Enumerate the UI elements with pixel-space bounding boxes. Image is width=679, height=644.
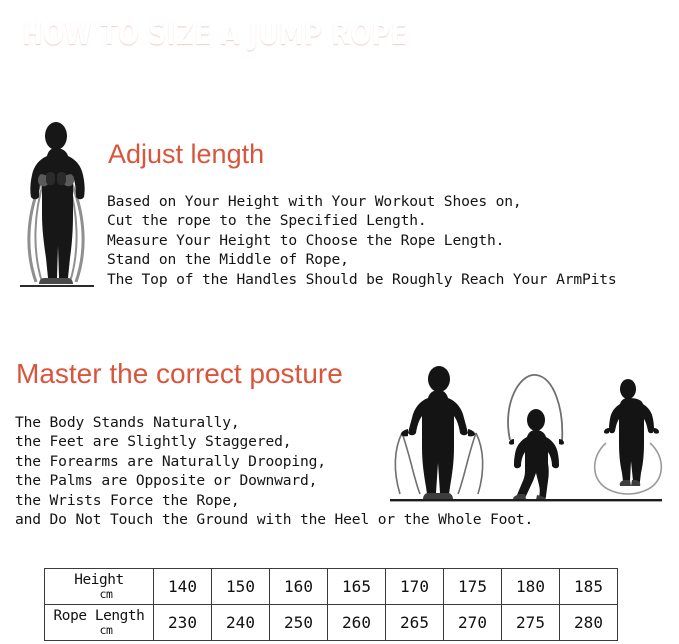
height-value-cell: 170: [386, 569, 444, 605]
height-value-cell: 165: [328, 569, 386, 605]
rope-length-value-cell: 280: [560, 605, 618, 641]
table-row: Rope Lengthcm 230 240 250 260 265 270 27…: [45, 605, 618, 641]
row-unit-rope-length: cm: [45, 625, 153, 637]
page-title: HOW TO SIZE A JUMP ROPE: [22, 16, 492, 51]
height-value-cell: 185: [560, 569, 618, 605]
rope-length-value-cell: 230: [154, 605, 212, 641]
rope-length-value-cell: 265: [386, 605, 444, 641]
table-row: Heightcm 140 150 160 165 170 175 180 185: [45, 569, 618, 605]
page-header-banner: HOW TO SIZE A JUMP ROPE: [0, 11, 679, 58]
section-heading-master-posture: Master the correct posture: [16, 358, 343, 390]
three-jumping-figures-icon: [384, 363, 666, 504]
section-heading-adjust-length: Adjust length: [108, 139, 264, 170]
height-value-cell: 180: [502, 569, 560, 605]
rope-length-value-cell: 275: [502, 605, 560, 641]
rope-size-table: Heightcm 140 150 160 165 170 175 180 185…: [44, 568, 618, 641]
rope-length-value-cell: 260: [328, 605, 386, 641]
row-label-height: Heightcm: [45, 569, 154, 605]
height-value-cell: 175: [444, 569, 502, 605]
height-value-cell: 140: [154, 569, 212, 605]
person-standing-on-rope-icon: [8, 118, 104, 300]
rope-length-value-cell: 240: [212, 605, 270, 641]
row-label-rope-length: Rope Lengthcm: [45, 605, 154, 641]
row-unit-height: cm: [45, 589, 153, 601]
section-body-adjust-length: Based on Your Height with Your Workout S…: [107, 192, 617, 289]
height-value-cell: 160: [270, 569, 328, 605]
rope-length-value-cell: 250: [270, 605, 328, 641]
rope-length-value-cell: 270: [444, 605, 502, 641]
row-label-rope-length-text: Rope Length: [54, 608, 145, 624]
row-label-height-text: Height: [74, 572, 124, 588]
height-value-cell: 150: [212, 569, 270, 605]
page-title-text: HOW TO SIZE A JUMP ROPE: [22, 16, 407, 51]
